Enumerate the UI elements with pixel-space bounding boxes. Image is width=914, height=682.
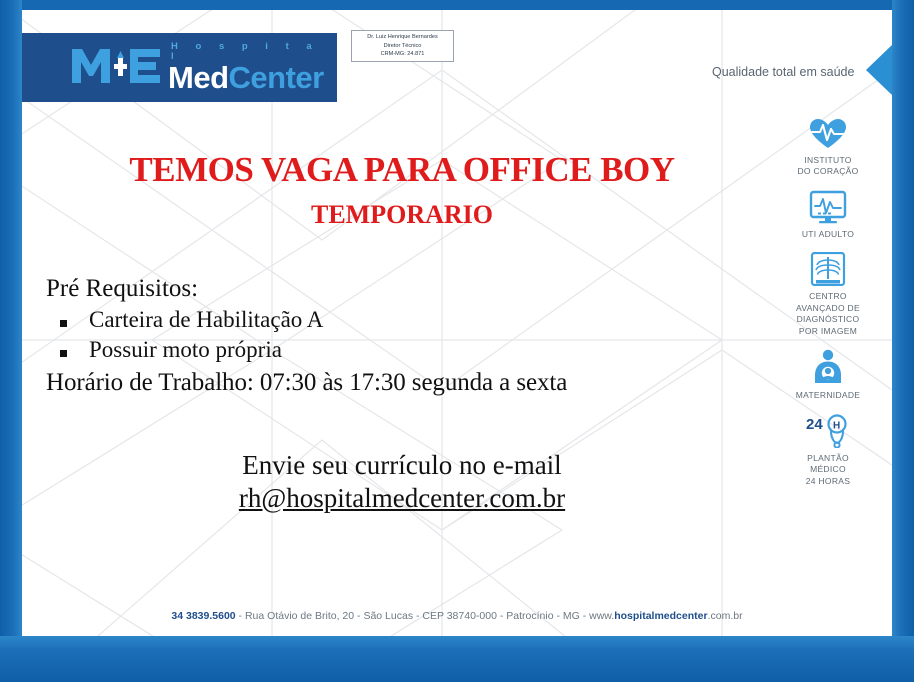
service-label: MATERNIDADE	[796, 390, 861, 401]
credential-registration: CRM-MG: 24.871	[381, 50, 425, 59]
requirements-title: Pré Requisitos:	[46, 275, 766, 303]
footer-website-tld: .com.br	[708, 610, 743, 622]
service-label: PLANTÃO MÉDICO 24 HORAS	[806, 453, 850, 487]
list-item: Carteira de Habilitação A	[60, 305, 766, 335]
svg-text:H: H	[833, 420, 840, 431]
page-title: TEMOS VAGA PARA OFFICE BOY	[22, 150, 782, 190]
logo-hospital-text: H o s p i t a l	[171, 42, 337, 61]
contact-instruction: Envie seu currículo no e-mail	[22, 450, 782, 481]
footer-contact-bar: 34 3839.5600 - Rua Otávio de Brito, 20 -…	[22, 610, 892, 622]
frame-bottom-border	[0, 636, 914, 682]
frame-top-border	[0, 0, 914, 10]
poster-canvas: H o s p i t a l MedCenter Dr. Luiz Henri…	[22, 10, 892, 636]
logo-center-text: Center	[229, 60, 324, 95]
contact-block: Envie seu currículo no e-mail rh@hospita…	[22, 450, 782, 514]
requirements-list: Carteira de Habilitação A Possuir moto p…	[46, 305, 766, 366]
heart-pulse-icon	[809, 118, 847, 150]
service-instituto-do-coracao: INSTITUTO DO CORAÇÃO	[797, 118, 858, 178]
brand-logo-banner: H o s p i t a l MedCenter	[22, 33, 337, 102]
square-bullet-icon	[60, 320, 67, 327]
frame-left-border	[0, 0, 22, 682]
service-centro-diagnostico-imagem: CENTRO AVANÇADO DE DIAGNÓSTICO POR IMAGE…	[796, 252, 860, 337]
service-label: UTI ADULTO	[802, 229, 854, 240]
24h-stethoscope-icon: 24 H	[805, 414, 851, 448]
technical-director-credential-box: Dr. Luiz Henrique Bernardes Diretor Técn…	[351, 30, 454, 62]
footer-phone: 34 3839.5600	[171, 610, 235, 622]
mother-baby-icon	[811, 349, 845, 385]
work-schedule-text: Horário de Trabalho: 07:30 às 17:30 segu…	[46, 369, 766, 397]
left-arrow-shape-icon	[866, 45, 892, 95]
brand-tagline: Qualidade total em saúde	[712, 65, 854, 79]
job-vacancy-poster: H o s p i t a l MedCenter Dr. Luiz Henri…	[0, 0, 914, 682]
list-item: Possuir moto própria	[60, 335, 766, 365]
credential-doctor-name: Dr. Luiz Henrique Bernardes	[367, 33, 438, 42]
requirements-block: Pré Requisitos: Carteira de Habilitação …	[46, 275, 766, 397]
square-bullet-icon	[60, 350, 67, 357]
logo-med-text: Med	[168, 60, 229, 95]
footer-address: - Rua Otávio de Brito, 20 - São Lucas - …	[236, 610, 615, 622]
brand-wordmark: H o s p i t a l MedCenter	[168, 42, 337, 93]
requirement-text: Possuir moto própria	[89, 335, 282, 365]
service-label: CENTRO AVANÇADO DE DIAGNÓSTICO POR IMAGE…	[796, 291, 860, 337]
page-subtitle: TEMPORARIO	[22, 200, 782, 230]
monitor-ecg-icon	[809, 190, 847, 224]
medcenter-logo-mark	[70, 45, 162, 90]
xray-ribcage-icon	[810, 252, 846, 286]
credential-role: Diretor Técnico	[384, 42, 422, 51]
services-sidebar: INSTITUTO DO CORAÇÃO UTI ADULTO	[768, 118, 888, 499]
contact-email-link[interactable]: rh@hospitalmedcenter.com.br	[22, 483, 782, 514]
service-uti-adulto: UTI ADULTO	[802, 190, 854, 240]
requirement-text: Carteira de Habilitação A	[89, 305, 323, 335]
logo-medcenter-text: MedCenter	[168, 62, 337, 93]
footer-website-bold: hospitalmedcenter	[614, 610, 707, 622]
service-plantao-medico-24h: 24 H PLANTÃO MÉDICO 24 HORAS	[805, 414, 851, 487]
service-maternidade: MATERNIDADE	[796, 349, 861, 401]
svg-text:24: 24	[806, 416, 823, 433]
frame-right-border	[892, 0, 914, 682]
service-label: INSTITUTO DO CORAÇÃO	[797, 155, 858, 178]
